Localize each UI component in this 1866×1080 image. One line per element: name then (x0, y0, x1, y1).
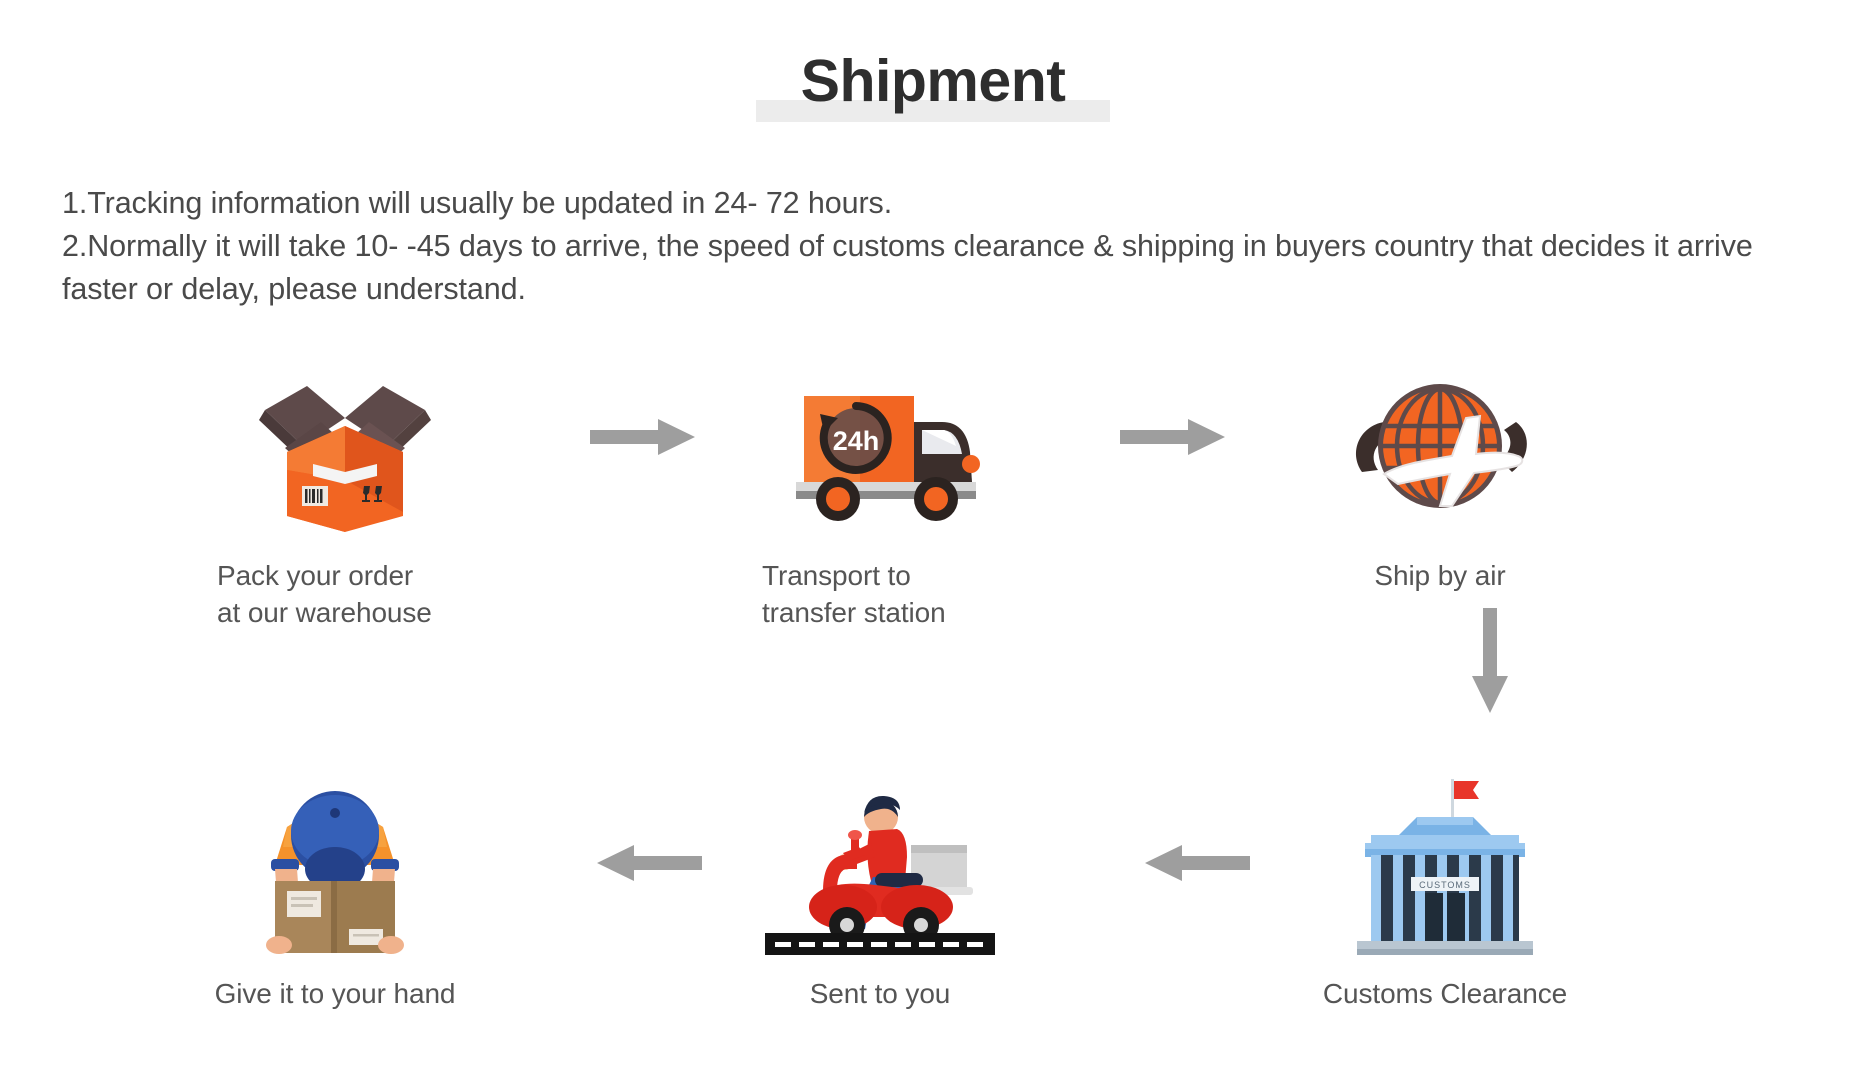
shipping-note-2: 2.Normally it will take 10- -45 days to … (62, 225, 1762, 311)
flow-step-give-to-hand: Give it to your hand (185, 778, 485, 1012)
flow-step-caption: Pack your order at our warehouse (195, 557, 495, 631)
caption-line-1: Give it to your hand (185, 975, 485, 1012)
flow-step-customs-clearance: CUSTOMS Customs Clearance (1295, 778, 1595, 1012)
flow-row-top: Pack your order at our warehouse (0, 360, 1866, 660)
caption-line-1: Ship by air (1290, 557, 1590, 594)
customs-building-icon: CUSTOMS (1295, 778, 1595, 953)
flow-row-bottom: Give it to your hand (0, 778, 1866, 1078)
arrow-scooter-to-hand-icon (592, 838, 702, 888)
delivery-man-box-icon (185, 778, 485, 953)
delivery-truck-icon: 24h (740, 360, 1040, 535)
customs-sign-text: CUSTOMS (1419, 880, 1471, 890)
flow-step-ship-by-air: Ship by air (1290, 360, 1590, 594)
scooter-courier-icon (730, 778, 1030, 953)
flow-step-transport: 24h (740, 360, 1040, 631)
truck-24h-badge-text: 24h (833, 426, 880, 456)
arrow-pack-to-truck-icon (590, 412, 700, 462)
page-title-block: Shipment (0, 48, 1866, 116)
shipment-flow-diagram: Pack your order at our warehouse (0, 360, 1866, 1078)
arrow-truck-to-air-icon (1120, 412, 1230, 462)
caption-line-2: transfer station (762, 594, 1040, 631)
flow-step-sent-to-you: Sent to you (730, 778, 1030, 1012)
shipping-note-1: 1.Tracking information will usually be u… (62, 182, 1762, 225)
arrow-air-to-customs-icon (1465, 608, 1515, 718)
flow-step-caption: Ship by air (1290, 557, 1590, 594)
flow-step-caption: Customs Clearance (1295, 975, 1595, 1012)
flow-step-caption: Sent to you (730, 975, 1030, 1012)
flow-step-caption: Give it to your hand (185, 975, 485, 1012)
caption-line-1: Sent to you (730, 975, 1030, 1012)
arrow-customs-to-scooter-icon (1140, 838, 1250, 888)
open-box-icon (195, 360, 495, 535)
caption-line-2: at our warehouse (217, 594, 495, 631)
shipping-notes: 1.Tracking information will usually be u… (62, 182, 1762, 311)
flow-step-pack-order: Pack your order at our warehouse (195, 360, 495, 631)
caption-line-1: Customs Clearance (1295, 975, 1595, 1012)
flow-step-caption: Transport to transfer station (740, 557, 1040, 631)
shipment-info-page: Shipment 1.Tracking information will usu… (0, 0, 1866, 1080)
globe-airplane-icon (1290, 360, 1590, 535)
caption-line-1: Pack your order (217, 557, 495, 594)
page-title: Shipment (801, 48, 1066, 116)
caption-line-1: Transport to (762, 557, 1040, 594)
